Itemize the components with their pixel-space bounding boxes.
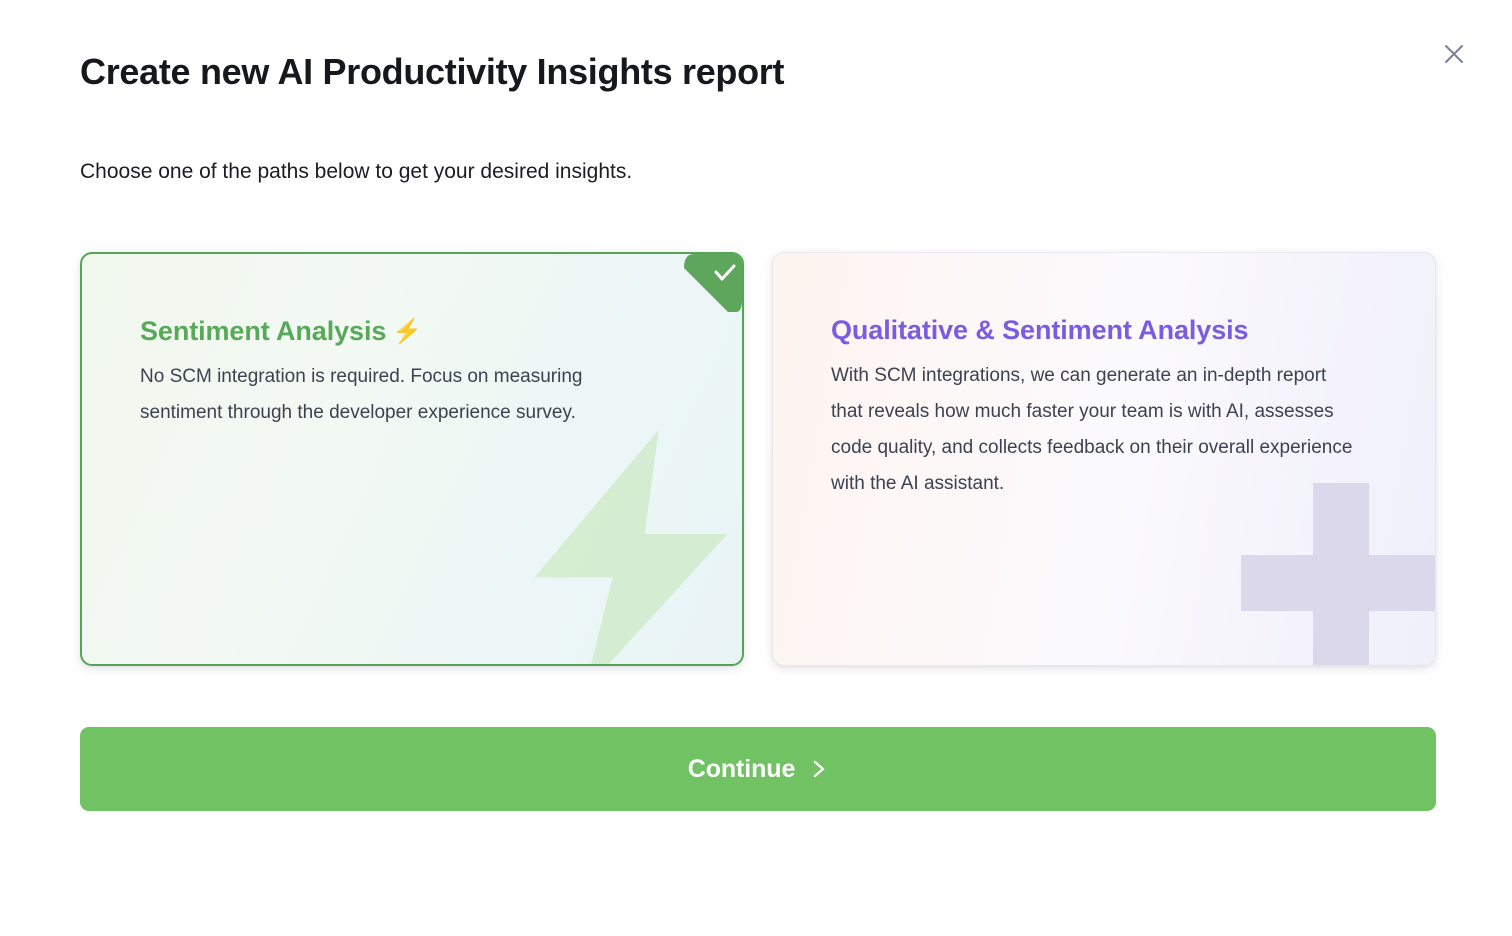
continue-label: Continue	[688, 755, 796, 784]
page-title: Create new AI Productivity Insights repo…	[80, 50, 784, 93]
selected-ribbon	[684, 254, 742, 312]
card-title: Sentiment Analysis⚡	[140, 314, 684, 349]
create-report-modal: Create new AI Productivity Insights repo…	[0, 0, 1512, 936]
card-description: No SCM integration is required. Focus on…	[140, 359, 650, 431]
card-sentiment-analysis[interactable]: Sentiment Analysis⚡ No SCM integration i…	[80, 252, 744, 666]
continue-button[interactable]: Continue	[80, 727, 1436, 811]
close-button[interactable]	[1434, 34, 1474, 74]
plus-watermark	[1241, 483, 1436, 666]
card-title: Qualitative & Sentiment Analysis	[831, 313, 1261, 348]
lightning-bolt-icon: ⚡	[392, 320, 422, 344]
path-options: Sentiment Analysis⚡ No SCM integration i…	[80, 252, 1436, 666]
card-qualitative-sentiment-analysis[interactable]: Qualitative & Sentiment Analysis With SC…	[772, 252, 1436, 666]
card-title-text: Sentiment Analysis	[140, 316, 386, 346]
chevron-right-icon	[811, 758, 828, 780]
lightning-bolt-watermark	[516, 430, 744, 666]
card-description: With SCM integrations, we can generate a…	[831, 358, 1361, 502]
close-icon	[1439, 39, 1469, 69]
page-subtitle: Choose one of the paths below to get you…	[80, 158, 632, 185]
